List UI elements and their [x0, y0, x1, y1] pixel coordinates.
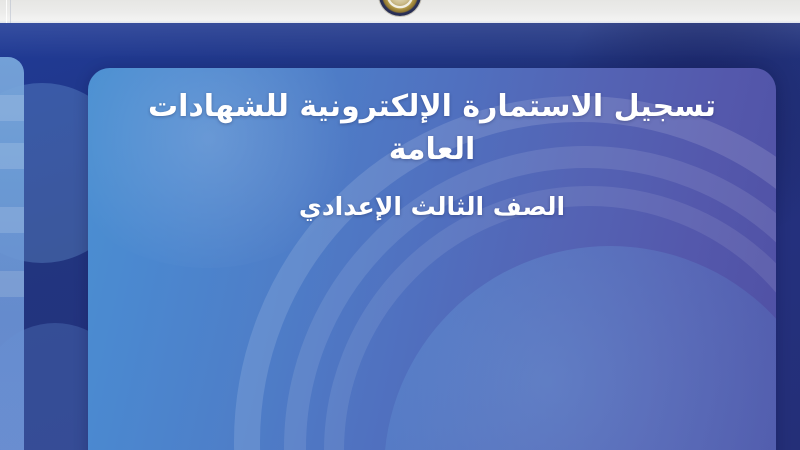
page-background: تسجيل الاستمارة الإلكترونية للشهادات الع…	[0, 23, 800, 450]
top-browser-strip	[0, 0, 800, 23]
card-edge-stripe	[0, 207, 24, 233]
page-subtitle: الصف الثالث الإعدادي	[116, 189, 748, 224]
card-edge-stripe	[0, 143, 24, 169]
stacked-card-edge	[0, 57, 24, 450]
page-title-line-1: تسجيل الاستمارة الإلكترونية للشهادات	[148, 89, 716, 124]
strip-divider-line	[6, 0, 7, 23]
card-text-block: تسجيل الاستمارة الإلكترونية للشهادات الع…	[88, 86, 776, 224]
seal-inner-icon	[389, 0, 411, 6]
main-content-card: تسجيل الاستمارة الإلكترونية للشهادات الع…	[88, 68, 776, 450]
government-seal-icon	[379, 0, 421, 16]
page-title: تسجيل الاستمارة الإلكترونية للشهادات الع…	[116, 86, 748, 171]
card-edge-stripe	[0, 271, 24, 297]
page-title-line-2: العامة	[389, 132, 476, 167]
card-edge-stripe	[0, 95, 24, 121]
screen: تسجيل الاستمارة الإلكترونية للشهادات الع…	[0, 0, 800, 450]
strip-divider-line-secondary	[10, 0, 11, 23]
